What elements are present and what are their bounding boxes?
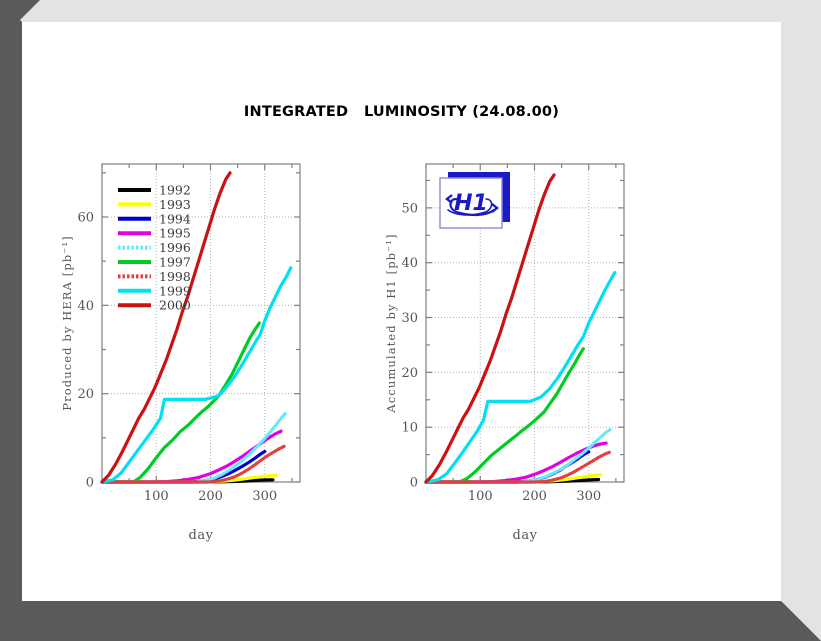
chart-svg-right: 01020304050100200300H1 (382, 154, 672, 554)
chart-produced-by-hera: Produced by HERA [pb⁻¹] 0204060100200300… (58, 154, 348, 554)
svg-text:1995: 1995 (159, 226, 191, 241)
svg-text:200: 200 (522, 489, 547, 504)
svg-text:0: 0 (86, 476, 94, 491)
svg-text:20: 20 (77, 387, 94, 402)
svg-text:100: 100 (468, 489, 493, 504)
svg-text:1998: 1998 (159, 269, 191, 284)
svg-text:300: 300 (576, 489, 601, 504)
svg-text:1992: 1992 (159, 183, 191, 198)
svg-text:1997: 1997 (159, 255, 191, 270)
y-axis-label-right: Accumulated by H1 [pb⁻¹] (384, 164, 398, 482)
svg-text:10: 10 (401, 421, 418, 436)
h1-collaboration-logo: H1 (440, 172, 510, 228)
svg-text:300: 300 (252, 489, 277, 504)
svg-text:0: 0 (410, 476, 418, 491)
svg-text:30: 30 (401, 311, 418, 326)
svg-text:1993: 1993 (159, 197, 191, 212)
svg-text:1999: 1999 (159, 283, 191, 298)
page-title: INTEGRATED LUMINOSITY (24.08.00) (22, 104, 781, 120)
svg-text:1996: 1996 (159, 240, 191, 255)
svg-text:40: 40 (401, 256, 418, 271)
window-frame: INTEGRATED LUMINOSITY (24.08.00) Produce… (0, 0, 821, 641)
x-axis-label-left: day (102, 528, 300, 543)
svg-text:200: 200 (198, 489, 223, 504)
plot-canvas: INTEGRATED LUMINOSITY (24.08.00) Produce… (22, 22, 781, 601)
svg-text:20: 20 (401, 366, 418, 381)
svg-text:100: 100 (144, 489, 169, 504)
svg-text:40: 40 (77, 299, 94, 314)
svg-text:1994: 1994 (159, 211, 191, 226)
svg-text:50: 50 (401, 201, 418, 216)
chart-svg-left: 0204060100200300199219931994199519961997… (58, 154, 348, 554)
svg-text:60: 60 (77, 211, 94, 226)
x-axis-label-right: day (426, 528, 624, 543)
chart-accumulated-by-h1: Accumulated by H1 [pb⁻¹] 010203040501002… (382, 154, 672, 554)
svg-text:2000: 2000 (159, 298, 191, 313)
y-axis-label-left: Produced by HERA [pb⁻¹] (60, 164, 74, 482)
svg-text:H1: H1 (454, 191, 488, 216)
